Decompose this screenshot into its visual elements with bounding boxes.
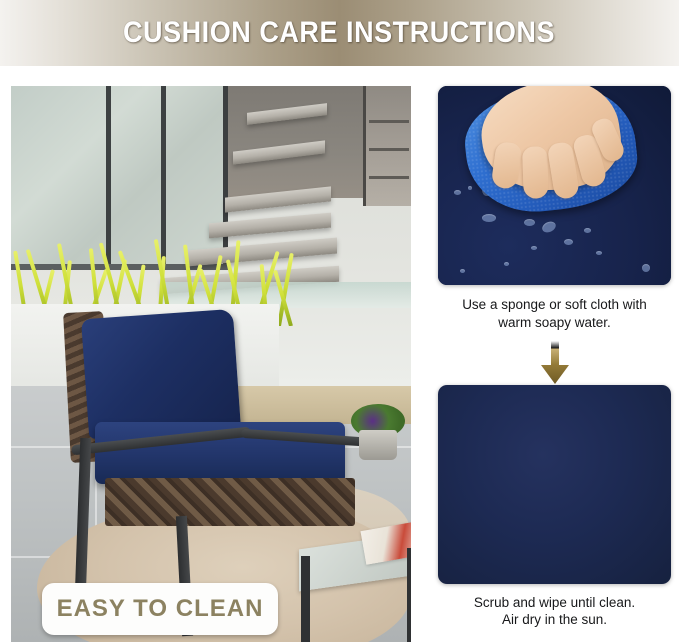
step-1-caption: Use a sponge or soft cloth with warm soa…	[438, 296, 671, 332]
step-2-caption: Scrub and wipe until clean. Air dry in t…	[438, 594, 671, 630]
water-droplet	[564, 239, 573, 245]
chair-wicker-apron	[105, 478, 355, 526]
step-2-caption-line-2: Air dry in the sun.	[438, 611, 671, 629]
water-droplet	[584, 228, 591, 233]
easy-to-clean-badge: EASY TO CLEAN	[42, 583, 278, 635]
finger	[491, 141, 523, 190]
photo-right-door	[363, 86, 411, 206]
door-seam	[369, 148, 409, 151]
water-droplet	[468, 186, 472, 190]
chair-back-cushion	[81, 309, 241, 439]
content-area: EASY TO CLEAN	[0, 66, 679, 642]
finger	[522, 146, 549, 199]
main-product-photo: EASY TO CLEAN	[11, 86, 411, 642]
water-droplet	[642, 264, 650, 272]
step-1-caption-line-2: warm soapy water.	[438, 314, 671, 332]
arrow-down-icon	[540, 341, 570, 385]
water-droplet	[454, 190, 461, 195]
step-2-photo	[438, 385, 671, 584]
water-droplet	[596, 251, 602, 255]
door-seam	[369, 120, 409, 123]
water-droplet	[482, 214, 496, 222]
page-title: CUSHION CARE INSTRUCTIONS	[123, 16, 555, 50]
step-2-caption-line-1: Scrub and wipe until clean.	[438, 594, 671, 612]
side-table-leg	[407, 548, 411, 642]
step-1-caption-line-1: Use a sponge or soft cloth with	[438, 296, 671, 314]
water-droplet	[531, 246, 537, 250]
water-droplet	[460, 269, 465, 273]
door-seam	[369, 176, 409, 179]
side-table-leg	[301, 556, 310, 642]
water-droplet	[524, 219, 535, 226]
header-banner: CUSHION CARE INSTRUCTIONS	[0, 0, 679, 66]
step-1-photo	[438, 86, 671, 285]
arrow-container	[438, 341, 671, 385]
steps-column: Use a sponge or soft cloth with warm soa…	[438, 86, 671, 642]
plant-pot	[359, 430, 397, 460]
easy-to-clean-label: EASY TO CLEAN	[57, 595, 264, 623]
water-droplet	[504, 262, 509, 266]
